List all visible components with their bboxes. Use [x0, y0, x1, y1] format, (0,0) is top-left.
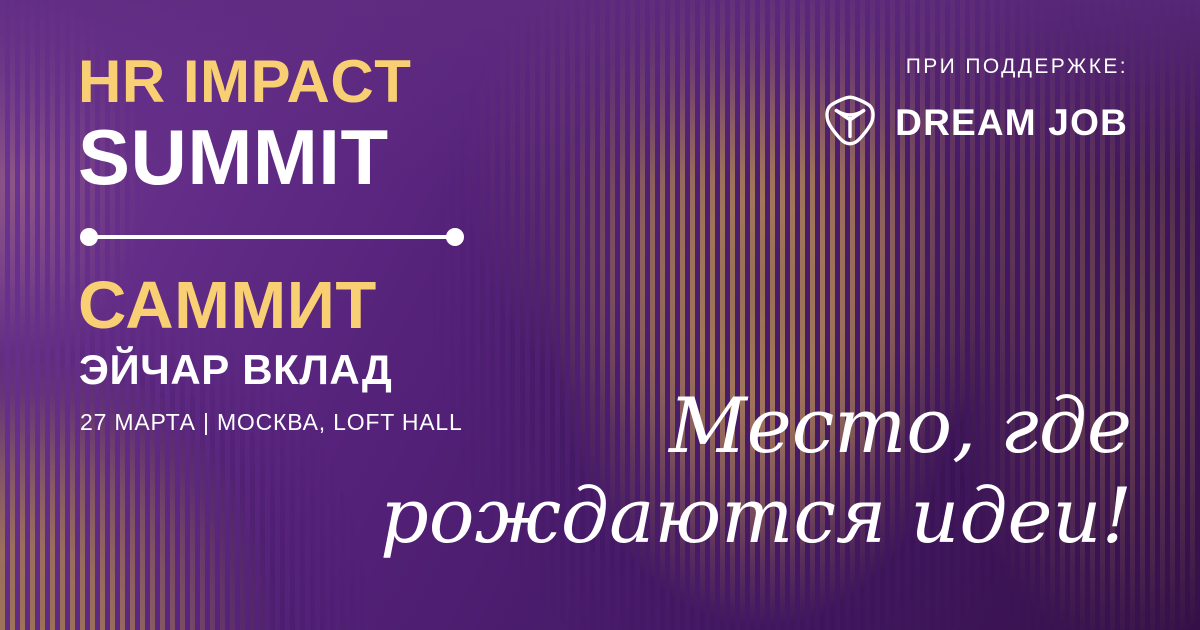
sponsor-name: DREAM JOB — [895, 104, 1128, 141]
event-banner: HR IMPACT SUMMIT САММИТ ЭЙЧАР ВКЛАД 27 М… — [0, 0, 1200, 630]
sponsor-block: ПРИ ПОДДЕРЖКЕ: DREAM JOB — [823, 55, 1128, 152]
headline-line-summit: SUMMIT — [78, 118, 498, 198]
tagline-block: Место, где рождаются идеи! — [520, 374, 1140, 574]
sponsor-label: ПРИ ПОДДЕРЖКЕ: — [823, 55, 1128, 79]
divider — [80, 228, 464, 246]
headline-line-hr-impact: HR IMPACT — [78, 52, 498, 112]
tagline-line-1: Место, где — [667, 381, 1132, 470]
headline-block: HR IMPACT SUMMIT САММИТ ЭЙЧАР ВКЛАД 27 М… — [78, 52, 498, 434]
sponsor-logo-row[interactable]: DREAM JOB — [823, 93, 1128, 152]
headline-line-sammit: САММИТ — [78, 272, 498, 339]
divider-bar — [88, 235, 456, 239]
tagline-line-2: рождаются идеи! — [380, 471, 1132, 560]
headline-line-eychar-vklad: ЭЙЧАР ВКЛАД — [79, 349, 498, 391]
dream-job-triangle-logo-icon — [823, 93, 877, 152]
divider-dot-right-icon — [446, 228, 464, 246]
event-date-venue: 27 МАРТА | МОСКВА, LOFT HALL — [80, 411, 498, 434]
